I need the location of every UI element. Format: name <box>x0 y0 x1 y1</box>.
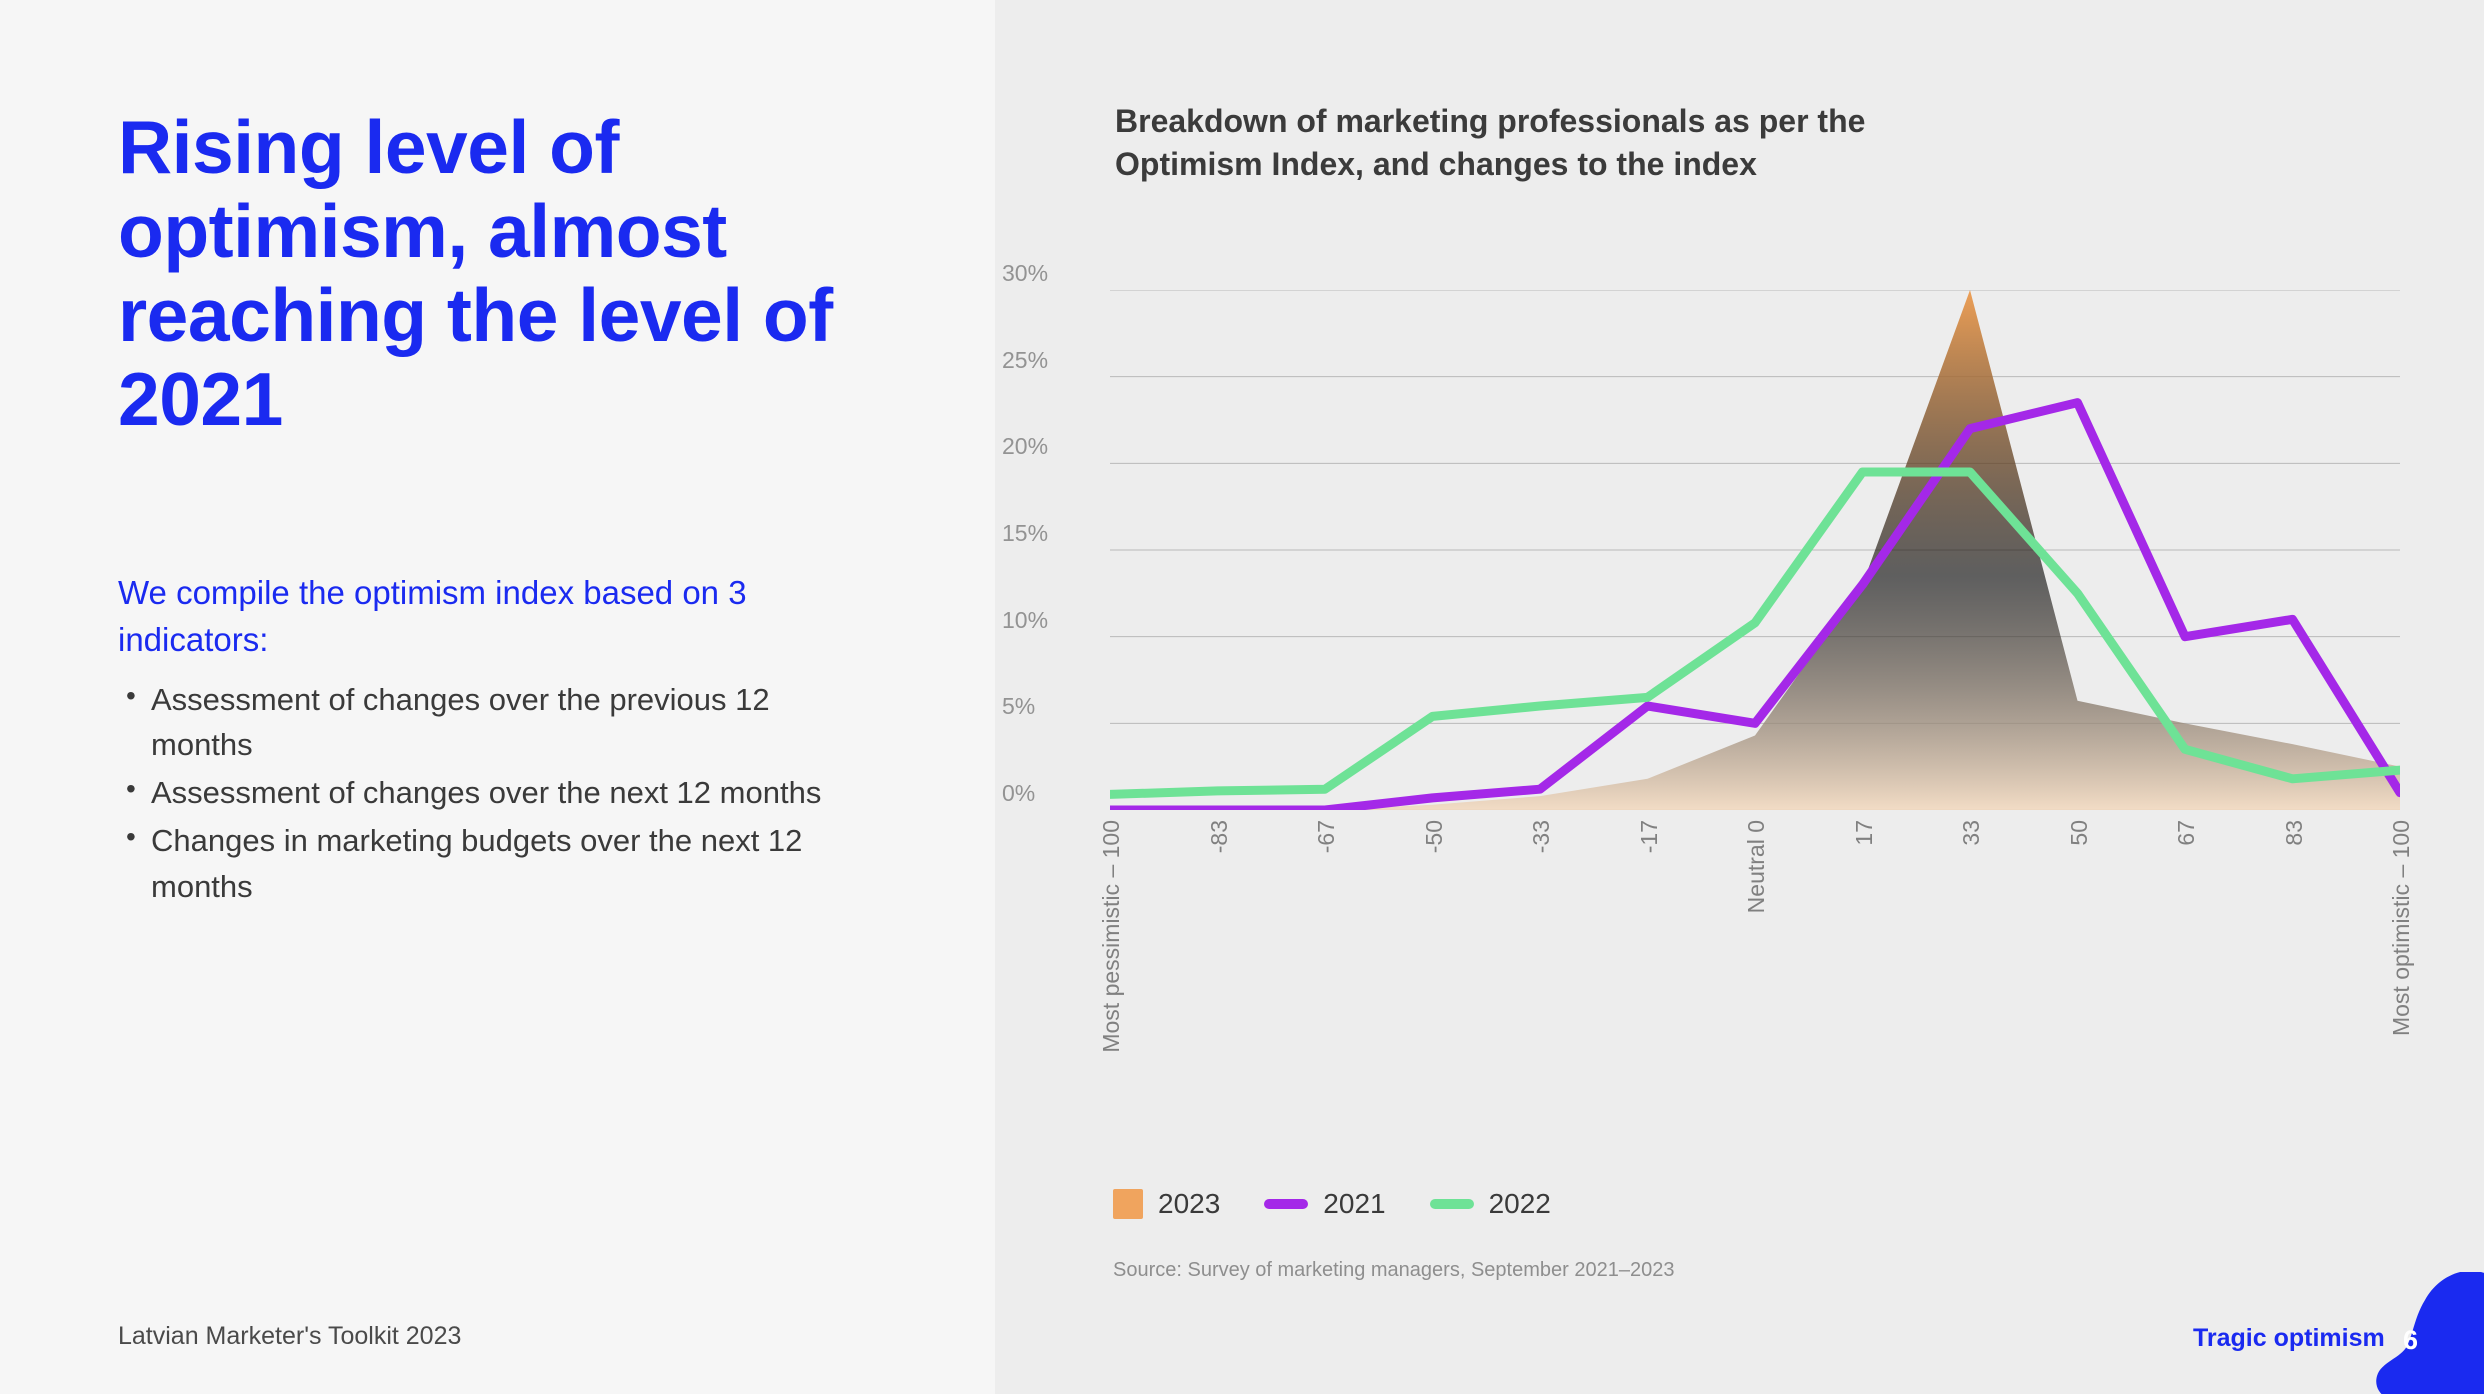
chart-legend: 202320212022 <box>1113 1188 1551 1220</box>
page-number: 6 <box>2403 1325 2418 1356</box>
chart-title: Breakdown of marketing professionals as … <box>1115 100 2015 185</box>
chapter-label: Tragic optimism <box>2193 1324 2385 1353</box>
x-axis-tick-label: -50 <box>1421 820 1448 853</box>
x-axis-tick-label: 83 <box>2281 820 2308 846</box>
legend-label: 2022 <box>1489 1188 1551 1220</box>
y-axis-tick-label: 0% <box>1002 780 1035 807</box>
legend-swatch-icon <box>1264 1199 1308 1209</box>
x-axis-tick-label: Neutral 0 <box>1743 820 1770 913</box>
page-badge-blob <box>2367 1272 2484 1394</box>
x-axis-tick-label: -67 <box>1313 820 1340 853</box>
legend-item-2023[interactable]: 2023 <box>1113 1188 1220 1220</box>
x-axis-tick-label: Most optimistic – 100 <box>2388 820 2415 1036</box>
slide-root: Rising level of optimism, almost reachin… <box>0 0 2484 1394</box>
y-axis-tick-label: 25% <box>1002 347 1048 374</box>
indicator-bullet: Assessment of changes over the previous … <box>118 677 878 768</box>
indicator-bullet-list: Assessment of changes over the previous … <box>118 677 878 909</box>
x-axis-tick-label: 17 <box>1851 820 1878 846</box>
x-axis-tick-label: -17 <box>1636 820 1663 853</box>
source-note: Source: Survey of marketing managers, Se… <box>1113 1259 1674 1282</box>
x-axis-tick-label: 50 <box>2066 820 2093 846</box>
footer-note: Latvian Marketer's Toolkit 2023 <box>118 1322 461 1351</box>
x-axis-tick-label: Most pessimistic – 100 <box>1098 820 1125 1053</box>
page-title: Rising level of optimism, almost reachin… <box>118 105 908 441</box>
chart-svg <box>1110 290 2400 810</box>
x-axis-tick-label: -83 <box>1206 820 1233 853</box>
intro-block: We compile the optimism index based on 3… <box>118 570 878 912</box>
indicator-bullet: Changes in marketing budgets over the ne… <box>118 818 878 909</box>
legend-item-2021[interactable]: 2021 <box>1264 1188 1385 1220</box>
legend-item-2022[interactable]: 2022 <box>1430 1188 1551 1220</box>
intro-lead-text: We compile the optimism index based on 3… <box>118 570 878 664</box>
y-axis-tick-label: 5% <box>1002 693 1035 720</box>
x-axis-tick-label: 33 <box>1958 820 1985 846</box>
x-axis-tick-label: -33 <box>1528 820 1555 853</box>
right-panel: Breakdown of marketing professionals as … <box>995 0 2484 1394</box>
legend-label: 2021 <box>1323 1188 1385 1220</box>
chart-x-axis: Most pessimistic – 100-83-67-50-33-17Neu… <box>1110 820 2400 1080</box>
chart-plot-area: 0%5%10%15%20%25%30% <box>1110 290 2400 810</box>
y-axis-tick-label: 10% <box>1002 607 1048 634</box>
y-axis-tick-label: 30% <box>1002 260 1048 287</box>
y-axis-tick-label: 20% <box>1002 433 1048 460</box>
y-axis-tick-label: 15% <box>1002 520 1048 547</box>
legend-swatch-icon <box>1113 1189 1143 1219</box>
legend-swatch-icon <box>1430 1199 1474 1209</box>
indicator-bullet: Assessment of changes over the next 12 m… <box>118 770 878 815</box>
legend-label: 2023 <box>1158 1188 1220 1220</box>
x-axis-tick-label: 67 <box>2173 820 2200 846</box>
left-panel: Rising level of optimism, almost reachin… <box>0 0 995 1394</box>
